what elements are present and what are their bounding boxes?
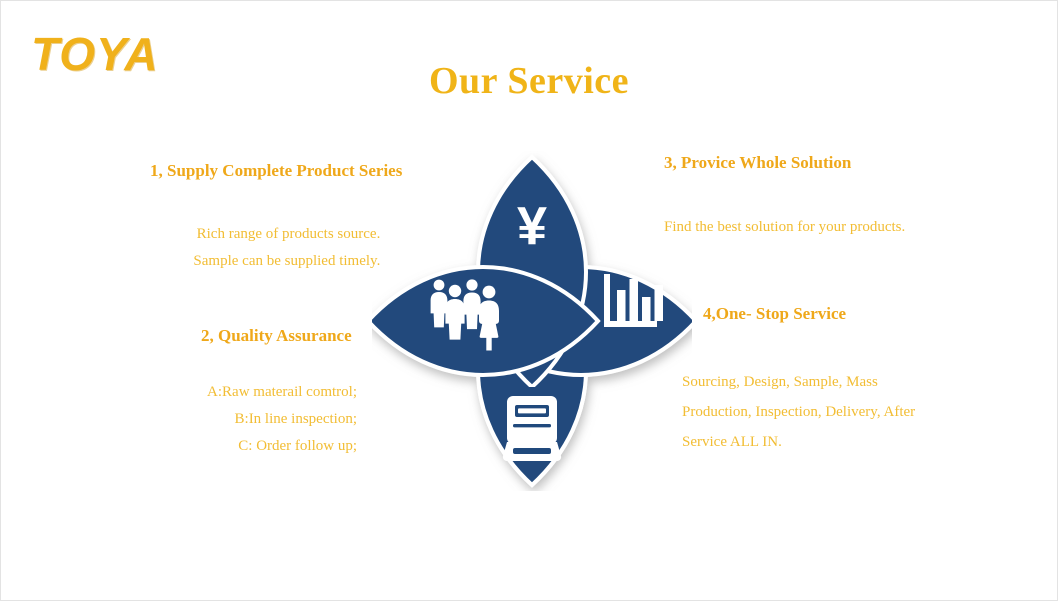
block-heading: 3, Provice Whole Solution xyxy=(664,153,905,173)
service-block-supply-complete-product-series: 1, Supply Complete Product Series Rich r… xyxy=(150,161,402,275)
block-body: Sourcing, Design, Sample, Mass Productio… xyxy=(682,367,922,457)
svg-text:¥: ¥ xyxy=(517,196,547,256)
slide-canvas: TOYA Our Service 1, Supply Complete Prod… xyxy=(0,0,1058,601)
block-line: C: Order follow up; xyxy=(201,433,357,460)
block-line: Sourcing, Design, Sample, Mass xyxy=(682,367,922,397)
block-line: Production, Inspection, Delivery, After xyxy=(682,397,922,427)
block-line: B:In line inspection; xyxy=(201,406,357,433)
block-line: Sample can be supplied timely. xyxy=(150,248,380,275)
page-title: Our Service xyxy=(1,59,1057,103)
block-heading: 1, Supply Complete Product Series xyxy=(150,161,402,181)
service-block-provice-whole-solution: 3, Provice Whole Solution Find the best … xyxy=(664,153,905,241)
block-body: Find the best solution for your products… xyxy=(664,214,905,241)
service-block-quality-assurance: 2, Quality Assurance A:Raw materail comt… xyxy=(201,326,357,460)
service-pinwheel-diagram: ¥ xyxy=(372,151,692,491)
service-block-one-stop-service: 4,One- Stop Service Sourcing, Design, Sa… xyxy=(682,304,922,457)
block-heading: 2, Quality Assurance xyxy=(201,326,357,346)
printer-icon xyxy=(503,396,561,461)
yen-currency-icon: ¥ xyxy=(517,196,547,256)
block-heading: 4,One- Stop Service xyxy=(682,304,922,324)
block-line: Service ALL IN. xyxy=(682,427,922,457)
block-body: Rich range of products source. Sample ca… xyxy=(150,221,402,275)
block-line: A:Raw materail comtrol; xyxy=(201,379,357,406)
block-line: Rich range of products source. xyxy=(150,221,380,248)
block-body: A:Raw materail comtrol; B:In line inspec… xyxy=(201,379,357,460)
block-line: Find the best solution for your products… xyxy=(664,214,905,241)
